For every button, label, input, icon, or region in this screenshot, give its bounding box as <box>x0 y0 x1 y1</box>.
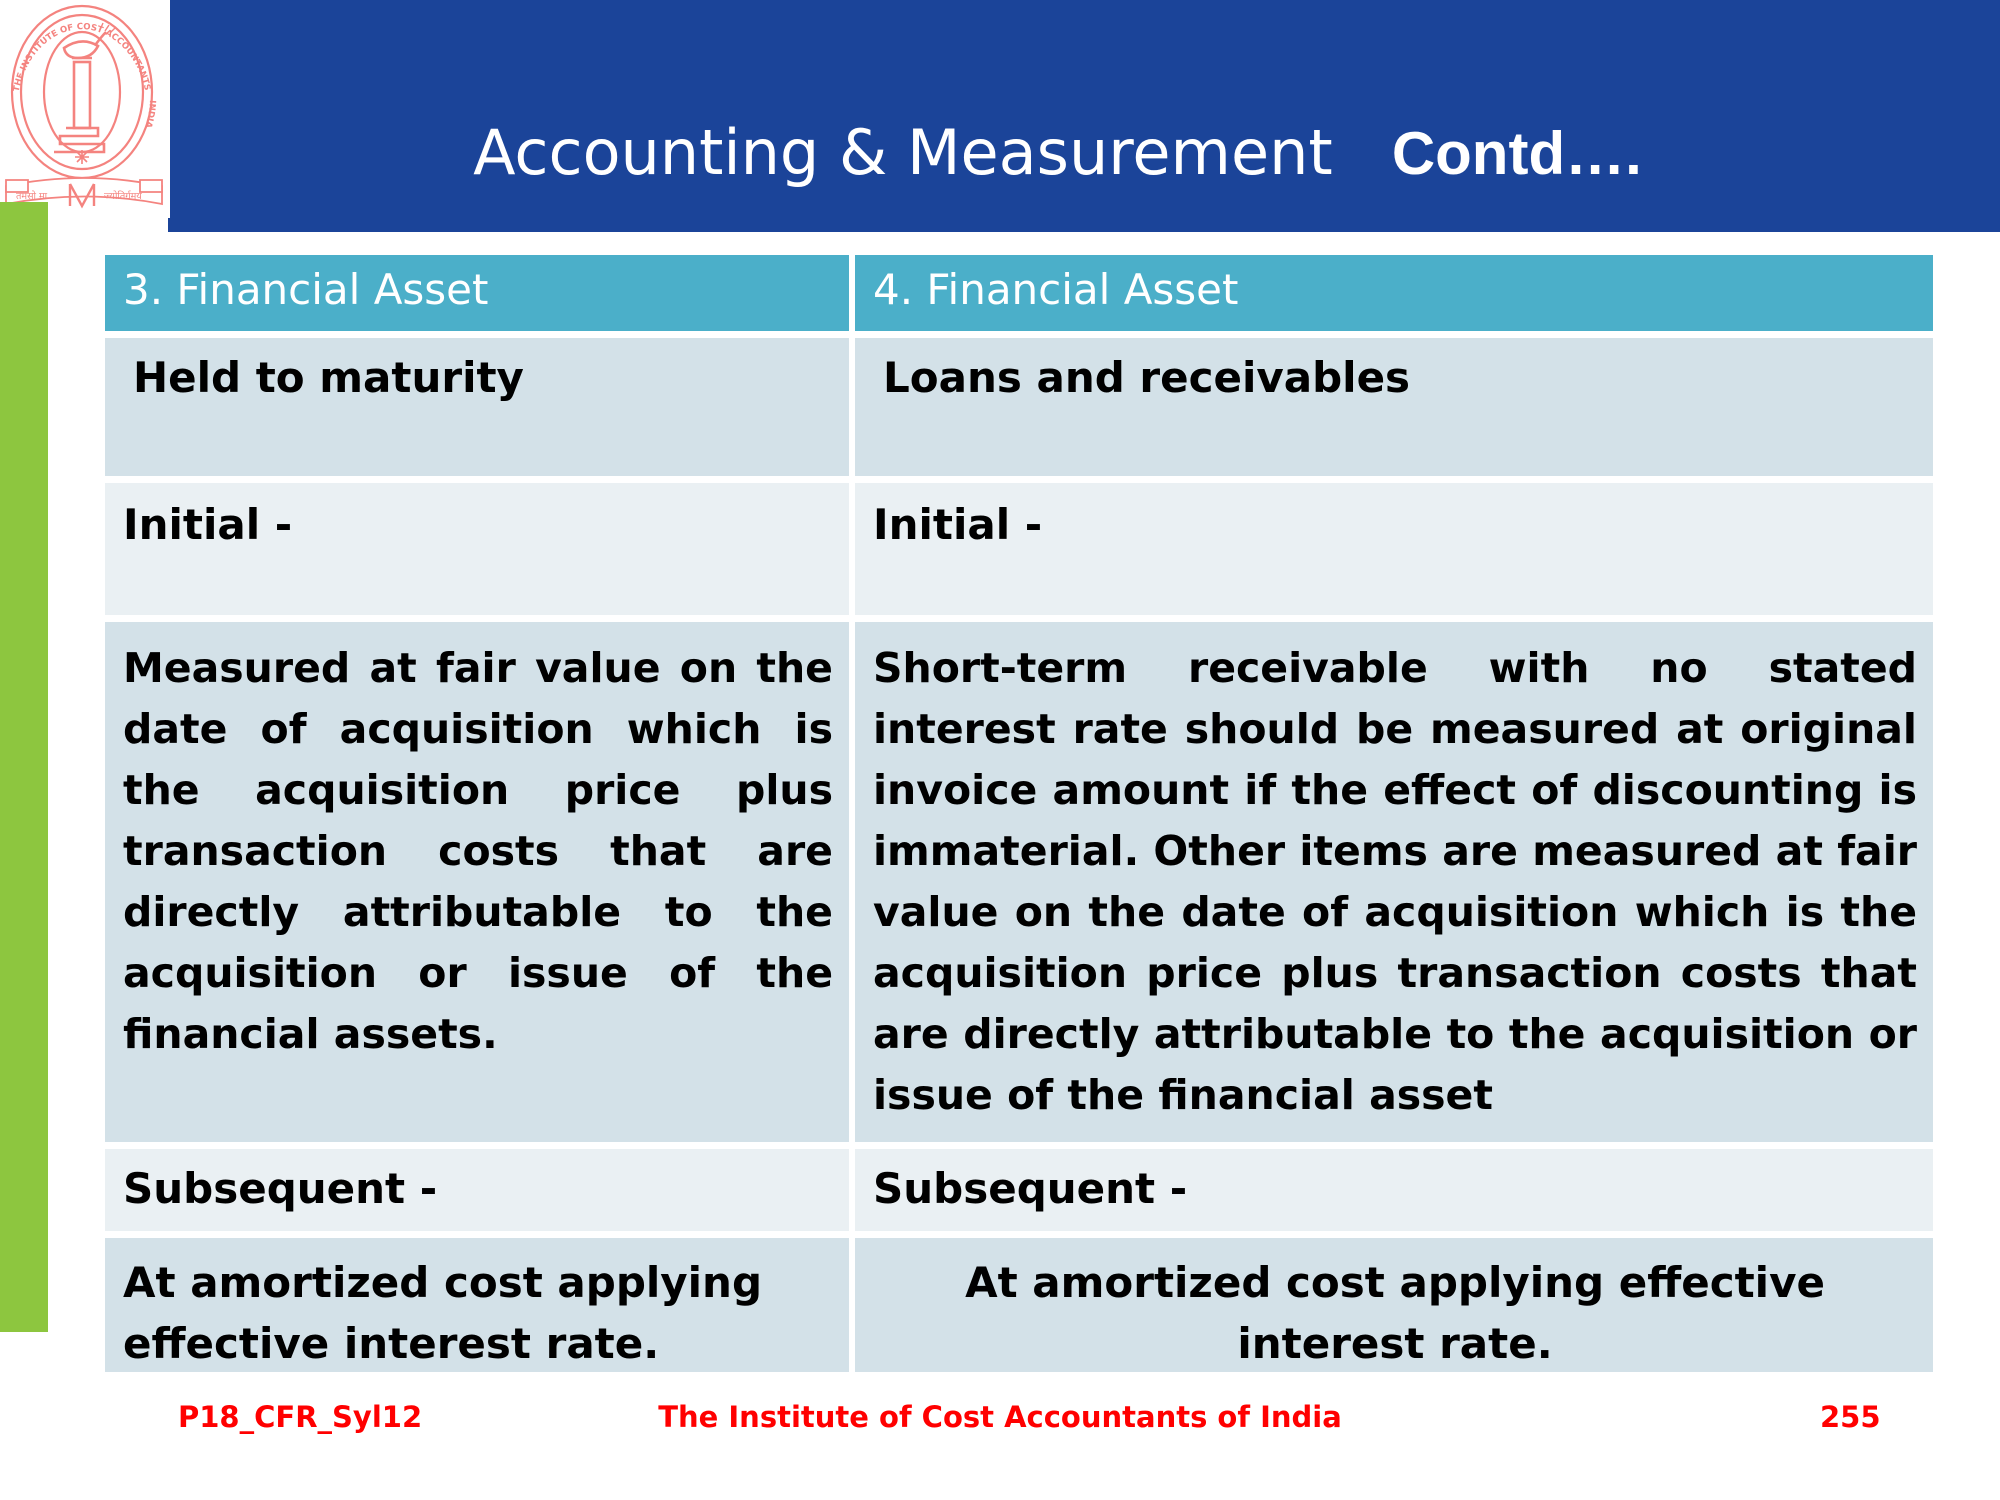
row-divider <box>105 1231 1933 1238</box>
page-title-contd: Contd…. <box>1392 120 1642 187</box>
row-divider <box>105 476 1933 483</box>
table-row-initial-label: Initial - Initial - <box>105 483 1933 615</box>
subsequent-body-col-a: At amortized cost applying effective int… <box>105 1238 849 1372</box>
initial-body-col-b: Short-term receivable with no stated int… <box>855 622 1933 1142</box>
initial-label-col-a: Initial - <box>105 483 849 615</box>
subsequent-label-col-a: Subsequent - <box>105 1149 849 1231</box>
institute-logo-icon: THE INSTITUTE OF COST ACCOUNTANTS OF IND… <box>0 0 170 218</box>
svg-text:INDIA: INDIA <box>142 100 157 129</box>
page-title: Accounting & Measurement Contd…. <box>168 55 1868 250</box>
subtitle-col-a: Held to maturity <box>105 338 849 476</box>
table-header-col-a: 3. Financial Asset <box>105 255 849 331</box>
svg-text:ज्योतिर्गमय: ज्योतिर्गमय <box>104 190 142 202</box>
table-row-subsequent-body: At amortized cost applying effective int… <box>105 1238 1933 1372</box>
green-accent-bar <box>0 202 48 1332</box>
row-divider <box>105 615 1933 622</box>
table-row-subsequent-label: Subsequent - Subsequent - <box>105 1149 1933 1231</box>
table-row-subtitle: Held to maturity Loans and receivables <box>105 338 1933 476</box>
comparison-table: 3. Financial Asset 4. Financial Asset He… <box>105 255 1933 1372</box>
slide-canvas: Accounting & Measurement Contd…. <box>0 0 2000 1500</box>
table-header-col-b: 4. Financial Asset <box>855 255 1933 331</box>
row-divider <box>105 331 1933 338</box>
slide-footer: P18_CFR_Syl12 The Institute of Cost Acco… <box>0 1400 2000 1460</box>
institute-logo: THE INSTITUTE OF COST ACCOUNTANTS OF IND… <box>0 0 170 218</box>
subsequent-label-col-b: Subsequent - <box>855 1149 1933 1231</box>
subtitle-col-b: Loans and receivables <box>855 338 1933 476</box>
page-title-main: Accounting & Measurement <box>473 116 1333 189</box>
footer-institute-name: The Institute of Cost Accountants of Ind… <box>0 1400 2000 1434</box>
subsequent-body-col-b: At amortized cost applying effective int… <box>855 1238 1933 1372</box>
table-row-initial-body: Measured at fair value on the date of ac… <box>105 622 1933 1142</box>
table-header-row: 3. Financial Asset 4. Financial Asset <box>105 255 1933 331</box>
footer-page-number: 255 <box>1820 1400 1881 1434</box>
row-divider <box>105 1142 1933 1149</box>
initial-label-col-b: Initial - <box>855 483 1933 615</box>
initial-body-col-a: Measured at fair value on the date of ac… <box>105 622 849 1142</box>
svg-text:तमसो मा: तमसो मा <box>16 190 48 202</box>
